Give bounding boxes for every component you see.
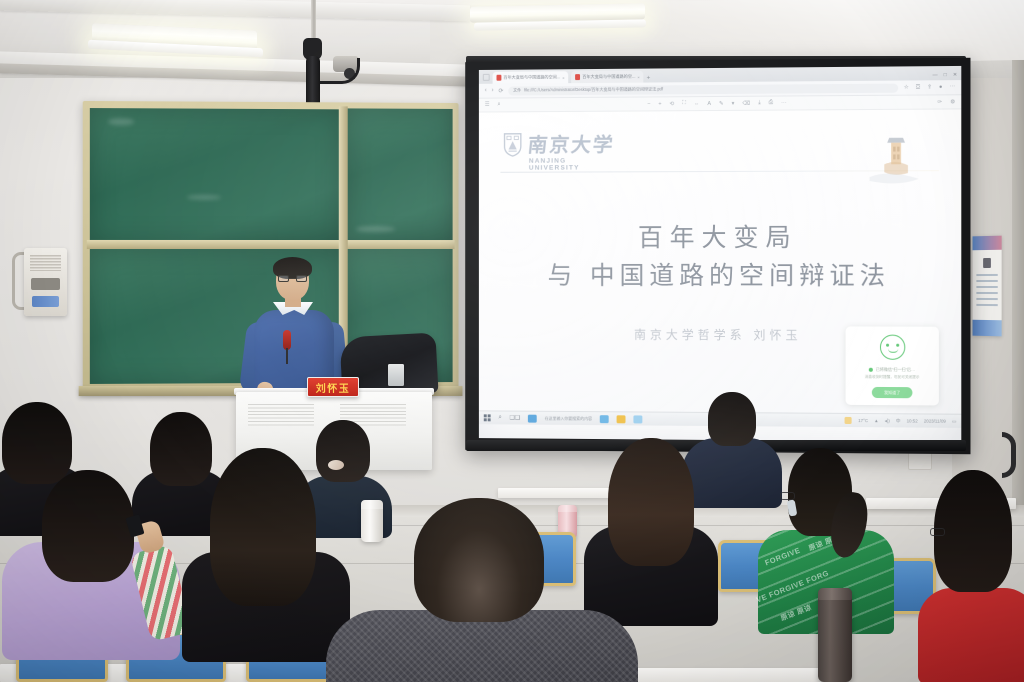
- speaker-nameplate: 刘怀玉: [307, 377, 359, 397]
- audience-person-foreground: [398, 498, 568, 682]
- store-icon[interactable]: [634, 415, 643, 423]
- eyeglasses-icon: [278, 275, 307, 282]
- settings-icon[interactable]: ⚙: [950, 99, 955, 105]
- browser-tab[interactable]: 百年大变局与中国道路的空间... ×: [493, 71, 569, 84]
- poster-glyph-icon: [983, 258, 991, 268]
- person-hair: [708, 392, 756, 446]
- clip-microphone-icon: [283, 330, 291, 350]
- maximize-icon[interactable]: □: [944, 72, 947, 78]
- read-aloud-icon[interactable]: A: [707, 101, 711, 107]
- zoom-in-icon[interactable]: +: [658, 101, 661, 107]
- person-hair: [934, 470, 1012, 592]
- water-glass: [388, 364, 404, 386]
- pdf-toolbar-center: − + ⟲ ⛶ ⇔ A ✎ ▾ ⌫ ⤓ ⎙ ⋯: [647, 100, 786, 108]
- status-dot-icon: [869, 368, 873, 372]
- nameplate-text: 刘怀玉: [316, 380, 351, 395]
- microphone-wire: [286, 348, 288, 364]
- windows-start-icon[interactable]: [484, 414, 491, 421]
- logo-chinese-text: 南京大学: [527, 134, 616, 154]
- print-icon[interactable]: ⎙: [769, 100, 773, 107]
- slide-title-line1: 百年大变局: [479, 219, 961, 257]
- north-tower-illustration: [860, 130, 929, 193]
- back-arrow-icon[interactable]: ‹: [485, 88, 487, 94]
- person-torso-red: [918, 588, 1024, 682]
- fit-page-icon[interactable]: ⛶: [682, 100, 686, 107]
- audience-person-green-jacket: FORGIVE VE FORGIVE FORG 原谅 原谅 原谅 原谅: [772, 448, 880, 598]
- erase-icon[interactable]: ⌫: [742, 100, 750, 106]
- intercom-speaker-grill: [30, 255, 61, 271]
- address-url: file:///C:/Users/Administrator/Desktop/百…: [524, 86, 663, 93]
- address-input[interactable]: 文件 file:///C:/Users/Administrator/Deskto…: [508, 83, 898, 95]
- search-icon[interactable]: ⌕: [498, 414, 501, 421]
- toast-secondary-line: 消息收到时提醒，勿扰可关闭提示: [865, 375, 920, 380]
- toast-dismiss-button[interactable]: 我知道了: [872, 387, 913, 398]
- close-icon[interactable]: ×: [562, 75, 564, 80]
- wall-intercom-icon[interactable]: [24, 248, 67, 316]
- person-hair: [608, 438, 694, 566]
- close-window-icon[interactable]: ✕: [953, 72, 957, 78]
- sidebar-icon[interactable]: ☰: [485, 102, 490, 109]
- toast-primary-line: 已将微信"扫一扫"后…: [869, 367, 915, 373]
- audience-person-purple: [22, 470, 172, 650]
- tab-list-icon[interactable]: [483, 74, 490, 81]
- rotate-icon[interactable]: ⟲: [670, 101, 675, 107]
- wall-poster: [973, 236, 1002, 337]
- weather-temp: 17°C: [858, 418, 868, 423]
- pdf-icon: [575, 74, 580, 80]
- address-scheme-label: 文件: [513, 87, 521, 93]
- toast-text: 已将微信"扫一扫"后…: [876, 367, 915, 373]
- pdf-toolbar-right: ✑ ⚙: [937, 99, 955, 105]
- forward-arrow-icon[interactable]: ›: [492, 88, 494, 94]
- smiley-face-icon: [879, 335, 904, 360]
- pdf-icon: [497, 75, 502, 81]
- clock-date[interactable]: 2023/11/09: [924, 419, 946, 424]
- jacket-text-cn: 原谅 原谅: [779, 603, 813, 624]
- poster-header: [973, 236, 1002, 251]
- dark-thermos: [818, 588, 852, 682]
- minimize-icon[interactable]: —: [933, 72, 938, 78]
- fit-width-icon[interactable]: ⇔: [694, 101, 699, 107]
- more-icon[interactable]: ⋯: [781, 100, 787, 106]
- slide-title-line2: 与 中国道路的空间辩证法: [479, 256, 961, 294]
- browser-toolbar-icons: ☆ ⛋ ⇪ ● ⋯: [904, 84, 955, 91]
- thermos-cap: [818, 588, 852, 600]
- projected-desktop: 百年大变局与中国道路的空间... × 百年大变局与中国道路的空... × + —…: [479, 66, 961, 442]
- share-icon[interactable]: ⇪: [927, 84, 932, 91]
- slide-title: 百年大变局 与 中国道路的空间辩证法: [479, 219, 961, 295]
- folder-icon[interactable]: [600, 415, 609, 423]
- lecture-hall-scene: 百年大变局与中国道路的空间... × 百年大变局与中国道路的空... × + —…: [0, 0, 1024, 682]
- intercom-display: [31, 278, 60, 290]
- jacket-text: FORGIVE: [764, 546, 802, 568]
- edge-icon[interactable]: [528, 414, 537, 422]
- wall-outlet: [908, 452, 932, 470]
- audience-person: [928, 470, 1024, 682]
- audience-person: [596, 438, 706, 588]
- browser-tab[interactable]: 百年大变局与中国道路的空... ×: [571, 71, 643, 84]
- nanjing-university-logo: 南京大学 NANJING UNIVERSITY: [502, 132, 614, 157]
- eyeglasses-icon: [930, 528, 945, 536]
- pdf-slide: 南京大学 NANJING UNIVERSITY: [479, 109, 961, 427]
- logo-english-text: NANJING UNIVERSITY: [529, 157, 615, 171]
- audience-person: [196, 448, 336, 648]
- draw-icon[interactable]: ✎: [719, 100, 724, 106]
- poster-footer: [973, 320, 1002, 337]
- taskbar-tray: 17°C ▲ ◂)) 中 10:52 2023/11/09 ▭: [845, 417, 956, 425]
- volume-icon[interactable]: ◂)): [885, 418, 890, 424]
- notification-toast[interactable]: 已将微信"扫一扫"后… 消息收到时提醒，勿扰可关闭提示 我知道了: [846, 326, 939, 405]
- intercom-buttons[interactable]: [32, 296, 59, 307]
- person-hair: [42, 470, 134, 582]
- person-hair-balding: [414, 498, 544, 622]
- profile-icon[interactable]: ●: [939, 84, 942, 91]
- favorite-icon[interactable]: ☆: [904, 84, 909, 91]
- task-view-icon[interactable]: ❑❑: [510, 415, 521, 422]
- person-hair: [210, 448, 316, 606]
- search-icon[interactable]: ⌕: [497, 101, 500, 108]
- new-tab-button[interactable]: +: [647, 76, 650, 82]
- more-icon[interactable]: ⋯: [950, 84, 956, 91]
- pdf-toolbar-left: ☰ ⌕: [485, 101, 501, 108]
- reload-icon[interactable]: ⟳: [498, 87, 503, 94]
- notes-icon[interactable]: ✑: [937, 99, 942, 105]
- taskbar-search-placeholder[interactable]: 在这里输入你要搜索的内容: [545, 415, 592, 421]
- clock-time[interactable]: 10:52: [907, 418, 918, 423]
- bottle-cap: [361, 500, 383, 509]
- browser-tab-title: 百年大变局与中国道路的空...: [582, 74, 635, 80]
- cloud-icon[interactable]: [845, 417, 852, 424]
- nju-shield-icon: [502, 132, 523, 157]
- chalkboard-panel: [90, 108, 341, 242]
- highlight-icon[interactable]: ▾: [732, 100, 735, 106]
- chalkboard-rail: [87, 240, 455, 249]
- chalkboard-panel: [346, 108, 453, 242]
- network-icon[interactable]: ▲: [874, 418, 878, 423]
- notification-icon[interactable]: ▭: [952, 418, 956, 424]
- ime-icon[interactable]: 中: [896, 418, 900, 424]
- mail-icon[interactable]: [617, 415, 626, 423]
- save-icon[interactable]: ⤓: [758, 100, 760, 107]
- browser-tab-title: 百年大变局与中国道路的空间...: [503, 74, 560, 80]
- white-bottle: [361, 500, 383, 542]
- close-icon[interactable]: ×: [637, 74, 639, 79]
- zoom-out-icon[interactable]: −: [647, 101, 650, 107]
- collections-icon[interactable]: ⛋: [916, 84, 920, 91]
- window-controls: — □ ✕: [933, 72, 958, 78]
